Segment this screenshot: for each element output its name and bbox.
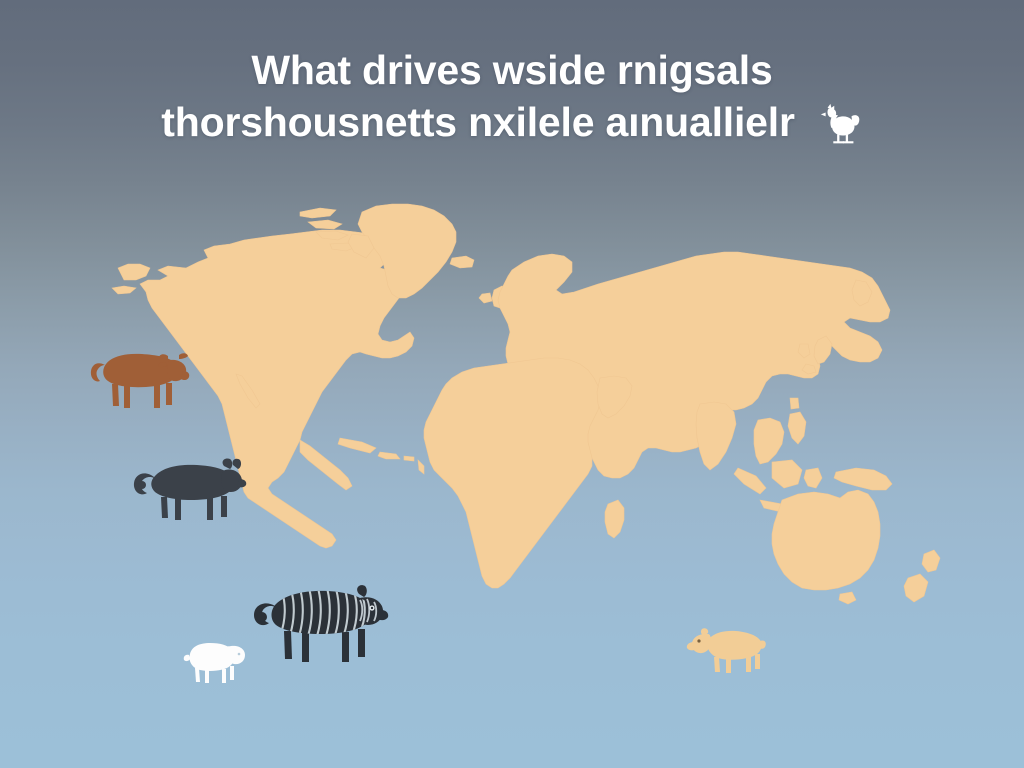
region-philippines xyxy=(788,412,806,444)
region-cuba xyxy=(338,438,376,453)
region-india xyxy=(696,402,736,470)
region-puerto-rico xyxy=(404,456,414,461)
region-lesser-antilles xyxy=(418,460,424,474)
region-iceland xyxy=(450,256,474,268)
region-madagascar xyxy=(605,500,624,538)
region-indochina xyxy=(754,418,784,464)
region-hispaniola xyxy=(378,452,400,459)
region-borneo xyxy=(772,460,802,488)
animal-zebra xyxy=(246,572,390,664)
region-aleutians xyxy=(112,286,136,294)
region-sumatra xyxy=(734,468,766,494)
region-taiwan xyxy=(790,398,799,409)
region-new-guinea xyxy=(834,468,892,490)
region-central-america xyxy=(300,440,352,490)
region-arctic-islands-1 xyxy=(300,208,336,218)
region-ireland xyxy=(479,293,492,303)
region-australia xyxy=(772,490,880,590)
region-alaska-tip xyxy=(118,264,150,280)
animal-capybara xyxy=(686,620,766,674)
region-sulawesi xyxy=(804,468,822,488)
region-tasmania xyxy=(839,592,856,604)
region-arctic-islands-2 xyxy=(308,220,342,229)
region-africa xyxy=(424,358,600,588)
infographic-canvas: What drives wside rnigsals thorshousnett… xyxy=(0,0,1024,768)
region-new-zealand-south xyxy=(904,574,928,602)
region-new-zealand-north xyxy=(922,550,940,572)
animal-sheep xyxy=(176,634,248,684)
animal-cow xyxy=(82,338,190,410)
animal-dog xyxy=(129,448,247,522)
